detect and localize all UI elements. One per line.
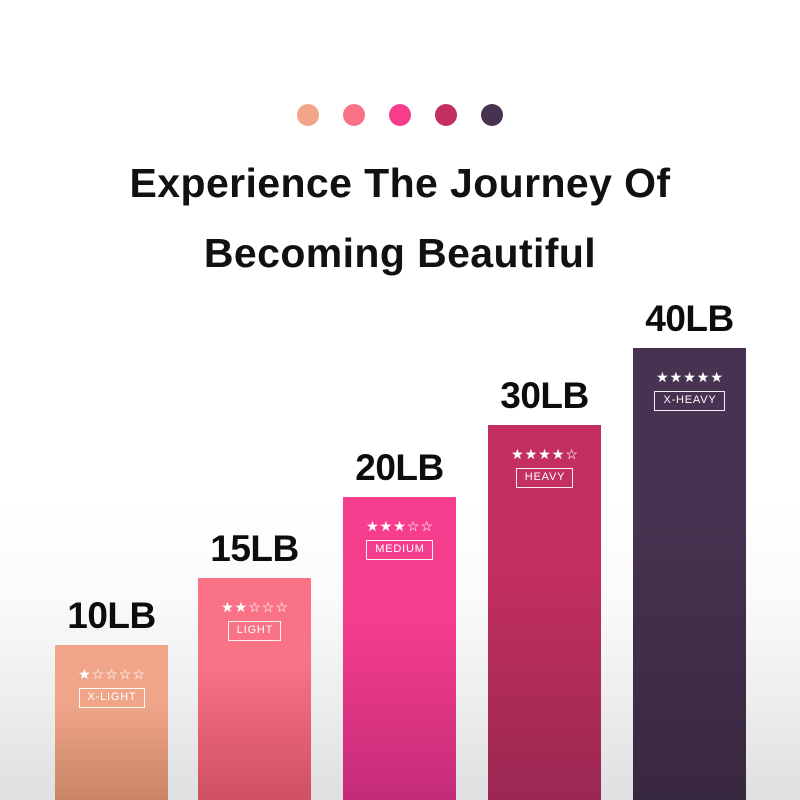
bar-content: ★☆☆☆☆X-LIGHT <box>55 667 168 708</box>
star-empty-icon: ☆ <box>105 667 118 681</box>
star-empty-icon: ☆ <box>275 600 288 614</box>
star-filled-icon: ★ <box>511 447 524 461</box>
star-filled-icon: ★ <box>552 447 565 461</box>
resistance-level-badge: MEDIUM <box>366 540 432 560</box>
resistance-level-badge: X-LIGHT <box>79 688 145 708</box>
bar-group-15lb[interactable]: 15LB★★☆☆☆LIGHT <box>198 578 311 800</box>
bar-column[interactable]: ★☆☆☆☆X-LIGHT <box>55 645 168 800</box>
bar-value-label: 15LB <box>170 528 339 570</box>
star-filled-icon: ★ <box>78 667 91 681</box>
star-rating: ★☆☆☆☆ <box>78 667 145 681</box>
star-filled-icon: ★ <box>221 600 234 614</box>
star-rating: ★★★★☆ <box>511 447 578 461</box>
star-rating: ★★☆☆☆ <box>221 600 288 614</box>
star-empty-icon: ☆ <box>132 667 145 681</box>
bar-column[interactable]: ★★☆☆☆LIGHT <box>198 578 311 800</box>
star-filled-icon: ★ <box>393 519 406 533</box>
star-filled-icon: ★ <box>366 519 379 533</box>
star-empty-icon: ☆ <box>119 667 132 681</box>
star-empty-icon: ☆ <box>420 519 433 533</box>
bar-value-label: 20LB <box>315 447 484 489</box>
bar-fill <box>633 348 746 800</box>
star-filled-icon: ★ <box>656 370 669 384</box>
star-filled-icon: ★ <box>235 600 248 614</box>
resistance-band-bar-chart: 10LB★☆☆☆☆X-LIGHT15LB★★☆☆☆LIGHT20LB★★★☆☆M… <box>0 0 800 800</box>
resistance-level-badge: LIGHT <box>228 621 281 641</box>
bar-group-10lb[interactable]: 10LB★☆☆☆☆X-LIGHT <box>55 645 168 800</box>
bar-content: ★★★★☆HEAVY <box>488 447 601 488</box>
bar-content: ★★★☆☆MEDIUM <box>343 519 456 560</box>
resistance-level-badge: HEAVY <box>516 468 573 488</box>
star-empty-icon: ☆ <box>248 600 261 614</box>
star-filled-icon: ★ <box>670 370 683 384</box>
star-empty-icon: ☆ <box>407 519 420 533</box>
star-filled-icon: ★ <box>710 370 723 384</box>
bar-content: ★★☆☆☆LIGHT <box>198 600 311 641</box>
star-rating: ★★★★★ <box>656 370 723 384</box>
bar-content: ★★★★★X-HEAVY <box>633 370 746 411</box>
bar-value-label: 40LB <box>605 298 774 340</box>
bar-column[interactable]: ★★★☆☆MEDIUM <box>343 497 456 800</box>
bar-value-label: 10LB <box>27 595 196 637</box>
star-filled-icon: ★ <box>683 370 696 384</box>
star-filled-icon: ★ <box>697 370 710 384</box>
star-empty-icon: ☆ <box>565 447 578 461</box>
promo-banner: Experience The Journey Of Becoming Beaut… <box>0 0 800 800</box>
bar-group-40lb[interactable]: 40LB★★★★★X-HEAVY <box>633 348 746 800</box>
star-empty-icon: ☆ <box>92 667 105 681</box>
bar-group-20lb[interactable]: 20LB★★★☆☆MEDIUM <box>343 497 456 800</box>
star-filled-icon: ★ <box>525 447 538 461</box>
bar-value-label: 30LB <box>460 375 629 417</box>
star-filled-icon: ★ <box>380 519 393 533</box>
bar-group-30lb[interactable]: 30LB★★★★☆HEAVY <box>488 425 601 800</box>
star-empty-icon: ☆ <box>262 600 275 614</box>
bar-column[interactable]: ★★★★★X-HEAVY <box>633 348 746 800</box>
star-filled-icon: ★ <box>538 447 551 461</box>
bar-column[interactable]: ★★★★☆HEAVY <box>488 425 601 800</box>
resistance-level-badge: X-HEAVY <box>654 391 724 411</box>
star-rating: ★★★☆☆ <box>366 519 433 533</box>
